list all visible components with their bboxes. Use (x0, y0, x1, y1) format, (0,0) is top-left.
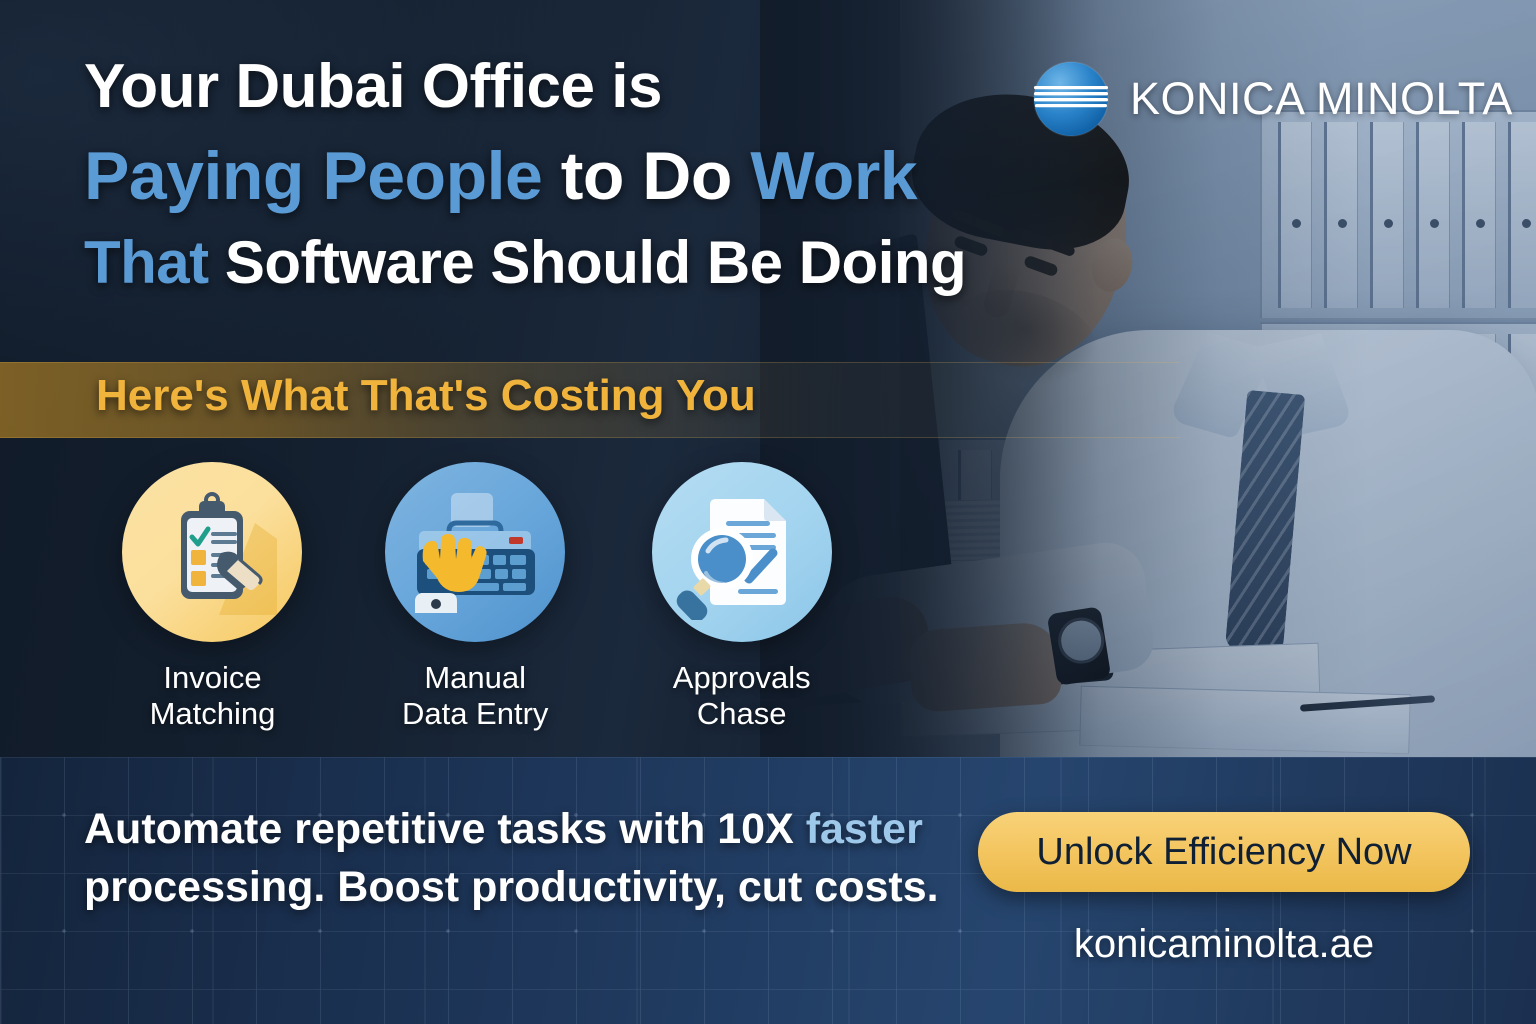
headline-accent-work: Work (750, 138, 917, 214)
document-magnifier-approval-icon (652, 462, 832, 642)
footer-tagline: Automate repetitive tasks with 10X faste… (84, 800, 944, 916)
headline-line2-middle: to Do (542, 138, 750, 214)
headline-line-1: Your Dubai Office is (84, 56, 1044, 117)
headline-line-2: Paying People to Do Work (84, 143, 1044, 210)
tagline-faster: faster (806, 805, 923, 853)
pain-point-label: Manual Data Entry (402, 660, 548, 732)
pain-point-approvals-chase[interactable]: Approvals Chase (609, 462, 874, 732)
logo-wordmark: KONICA MINOLTA (1130, 73, 1513, 125)
pain-point-manual-data-entry[interactable]: Manual Data Entry (341, 462, 609, 732)
headline-accent-paying-people: Paying People (84, 138, 542, 214)
pain-point-label: Invoice Matching (150, 660, 276, 732)
headline-block: Your Dubai Office is Paying People to Do… (84, 56, 1044, 292)
keyboard-hand-typing-icon (385, 462, 565, 642)
headline-accent-that: That (84, 229, 209, 296)
headline-line3-rest: Software Should Be Doing (209, 229, 967, 296)
tagline-part-2: processing. Boost productivity, cut cost… (84, 863, 939, 911)
website-url[interactable]: konicaminolta.ae (978, 922, 1470, 967)
tagline-part-1: Automate repetitive tasks with (84, 805, 717, 853)
tagline-10x: 10X (717, 805, 805, 853)
pain-points-row: Invoice Matching (84, 462, 874, 732)
cta-label: Unlock Efficiency Now (1036, 831, 1411, 874)
unlock-efficiency-button[interactable]: Unlock Efficiency Now (978, 812, 1470, 892)
headline-line-3: That Software Should Be Doing (84, 233, 1044, 292)
konica-minolta-logo[interactable]: KONICA MINOLTA (1032, 60, 1513, 138)
pain-point-label: Approvals Chase (673, 660, 811, 732)
clipboard-checklist-icon (122, 462, 302, 642)
subheadline-text: Here's What That's Costing You (96, 371, 756, 421)
marketing-banner: KONICA MINOLTA Your Dubai Office is Payi… (0, 0, 1536, 1024)
pain-point-invoice-matching[interactable]: Invoice Matching (84, 462, 341, 732)
